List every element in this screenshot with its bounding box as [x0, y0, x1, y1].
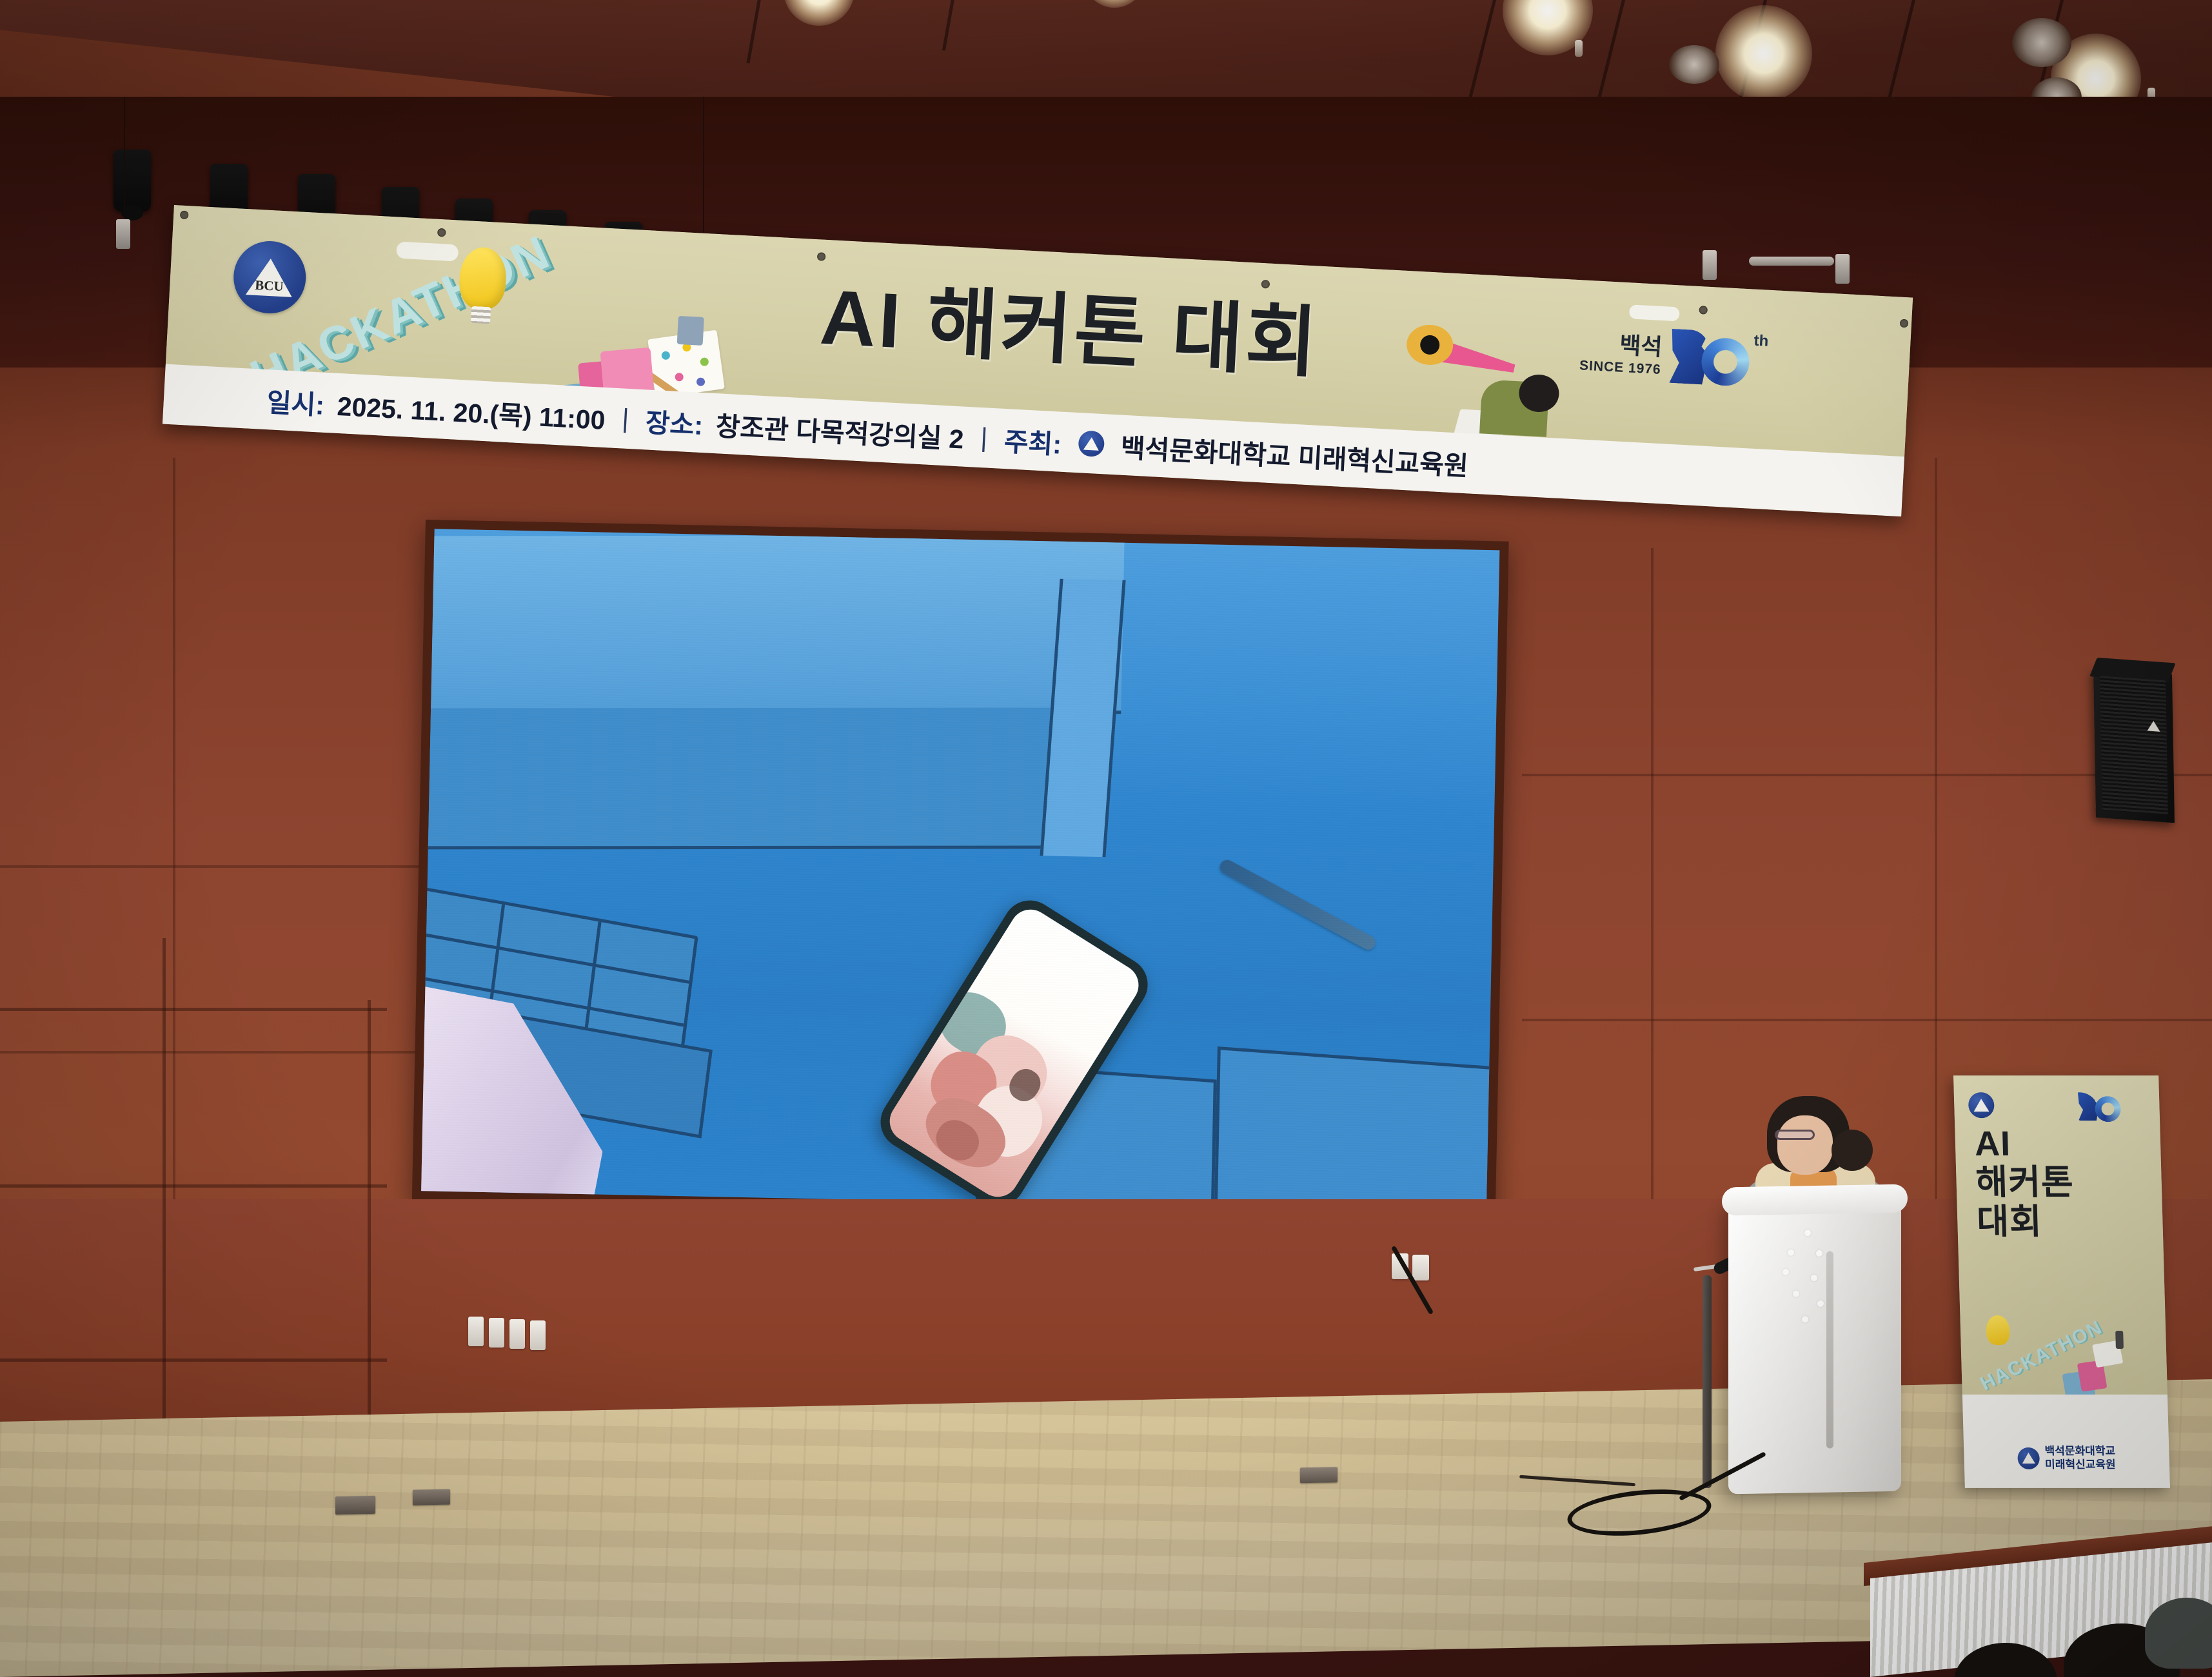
wall-outlet[interactable] — [489, 1318, 504, 1348]
ceiling-downlight — [2012, 18, 2071, 67]
bcu-logo-rollup-bottom — [2017, 1447, 2040, 1469]
wall-outlet[interactable] — [468, 1317, 484, 1346]
wall-outlet[interactable] — [509, 1319, 525, 1349]
date-label: 일시: — [266, 380, 326, 422]
info-separator: | — [976, 422, 992, 453]
projection-screen — [421, 529, 1499, 1212]
bcu-logo-text: BCU — [255, 277, 284, 295]
place-value: 창조관 다목적강의실 2 — [715, 404, 965, 456]
ceiling-downlight — [784, 0, 854, 26]
photo-scene: BCU HACKATHON — [0, 0, 2212, 1677]
projection-screen-frame — [412, 520, 1509, 1222]
host-label: 주최: — [1003, 420, 1063, 462]
rollup-org-line1: 백석문화대학교 — [2044, 1445, 2115, 1458]
podium — [1728, 1195, 1901, 1495]
wall-outlet[interactable] — [1412, 1255, 1429, 1280]
pencil-cup-icon — [677, 316, 704, 346]
rollup-title: AI 해커톤 대회 — [1974, 1124, 2138, 1241]
place-label: 장소: — [645, 400, 704, 442]
ceiling-downlight — [1083, 0, 1145, 8]
anniversary-since: SINCE 1976 — [1579, 358, 1662, 377]
rollup-org-line2: 미래혁신교육원 — [2045, 1458, 2116, 1471]
floor-outlet-box[interactable] — [413, 1489, 450, 1505]
glasses — [1775, 1130, 1815, 1140]
banner-mount-plate — [1703, 250, 1717, 280]
banner-mount-plate — [116, 219, 130, 249]
bcu-logo-rollup — [1968, 1092, 1995, 1118]
cloud-decoration — [396, 241, 459, 261]
host-value: 백석문화대학교 미래혁신교육원 — [1120, 426, 1469, 483]
telescope-illustration — [1402, 316, 1550, 439]
anniversary-logo-rollup — [2077, 1090, 2122, 1119]
wall-outlet[interactable] — [530, 1320, 546, 1350]
stage-light — [114, 150, 151, 211]
anniversary-brand: 백석 — [1619, 333, 1663, 358]
floor-outlet-box[interactable] — [335, 1496, 375, 1515]
rollup-title-line2: 해커톤 — [1975, 1164, 2138, 1202]
microphone-stand — [1703, 1275, 1712, 1488]
banner-mount-plate — [1835, 254, 1850, 284]
entrance-door[interactable] — [0, 938, 387, 1454]
rollup-title-line3: 대회 — [1977, 1202, 2139, 1241]
rollup-title-line1: AI — [1974, 1124, 2137, 1163]
date-value: 2025. 11. 20.(목) 11:00 — [337, 384, 607, 436]
ceiling-downlight — [1669, 45, 1719, 84]
rollup-banner: AI 해커톤 대회 HACKATHON 백석문화대학교 미래혁신교육원 — [1953, 1075, 2170, 1488]
sprinkler-head — [1575, 40, 1583, 57]
bcu-logo-small — [1078, 430, 1105, 457]
floor-outlet-box[interactable] — [1300, 1467, 1338, 1483]
info-separator: | — [617, 403, 633, 434]
rollup-organizer: 백석문화대학교 미래혁신교육원 — [1964, 1445, 2169, 1471]
cloud-decoration — [1629, 304, 1680, 321]
anniversary-suffix: th — [1753, 332, 1769, 351]
ceiling-downlight — [1715, 5, 1812, 102]
turnbuckle — [1749, 257, 1834, 266]
pa-speaker — [2093, 669, 2175, 823]
lightbulb-icon-rollup — [1986, 1315, 2010, 1345]
anniversary-logo: 백석 SINCE 1976 th — [1579, 320, 1752, 392]
